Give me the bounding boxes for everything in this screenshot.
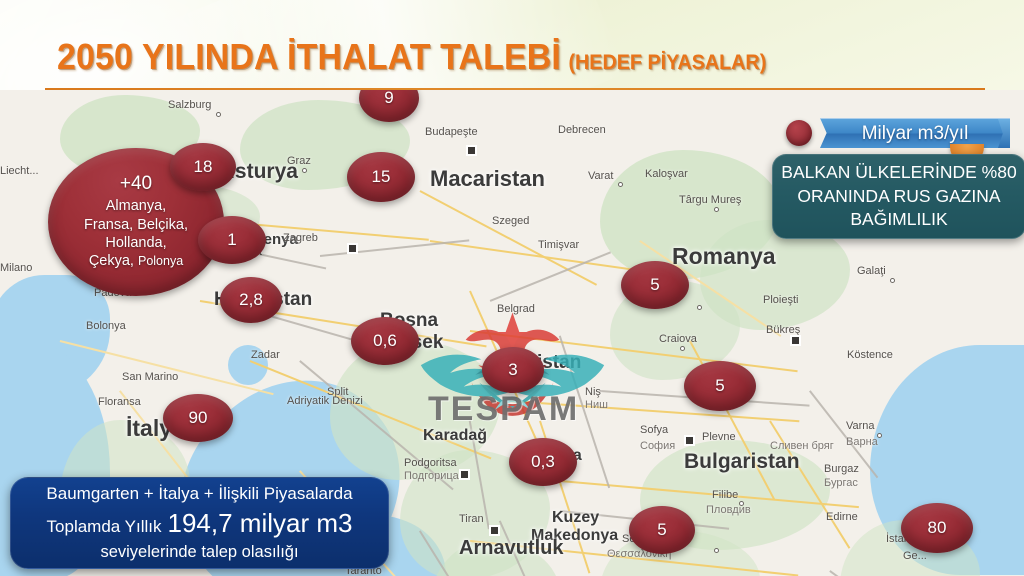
map-city-label: Varat: [588, 170, 613, 182]
bubble-value: 5: [657, 521, 666, 540]
map-city-label: Budapeşte: [425, 126, 478, 138]
map-city-label: Ploieşti: [763, 294, 798, 306]
bubble-austria[interactable]: 18: [170, 143, 236, 191]
map-city-label: Ge...: [903, 550, 927, 562]
map-city-dot: [686, 437, 693, 444]
bubble-country-line-3: Hollanda,: [84, 234, 188, 252]
map-city-dot: [792, 337, 799, 344]
slide-header: 2050 YILINDA İTHALAT TALEBİ(HEDEF PİYASA…: [0, 0, 1024, 90]
bubble-serbia[interactable]: 3: [482, 347, 544, 393]
bubble-value: 80: [928, 519, 947, 538]
map-city-label: Burgaz: [824, 463, 859, 475]
bubble-italy[interactable]: 90: [163, 394, 233, 442]
map-city-label: Tiran: [459, 513, 484, 525]
map-city-dot: [618, 182, 623, 187]
bubble-croatia[interactable]: 2,8: [220, 277, 282, 323]
map-city-dot: [349, 245, 356, 252]
map-city-label: Sofya: [640, 424, 668, 436]
map-country-label: Macaristan: [430, 166, 545, 192]
bubble-romania[interactable]: 5: [621, 261, 689, 309]
map-city-label: Filibe: [712, 489, 738, 501]
bubble-value: 5: [650, 276, 659, 295]
bubble-country-line-1: Almanya,: [84, 197, 188, 215]
map-city-label: Bolonya: [86, 320, 126, 332]
blue-line-2-value: 194,7 milyar m3: [168, 508, 353, 539]
bubble-countries: Almanya, Fransa, Belçika, Hollanda, Çeky…: [84, 197, 188, 270]
page-title-sub: (HEDEF PİYASALAR): [568, 51, 766, 74]
bubble-value: 0,6: [373, 332, 397, 351]
map-city-label: Galaţi: [857, 265, 886, 277]
bubble-value: 1: [227, 231, 236, 250]
map-city-dot: [216, 112, 221, 117]
bubble-bulgaria[interactable]: 5: [684, 361, 756, 411]
bubble-macedonia[interactable]: 0,3: [509, 438, 577, 486]
map-city-label: San Marino: [122, 371, 178, 383]
map-city-label: Debrecen: [558, 124, 606, 136]
bubble-value: +40: [120, 174, 152, 195]
map-city-label: Bükreş: [766, 324, 800, 336]
bubble-country-cekya: Çekya,: [89, 253, 134, 269]
map-city-dot: [680, 346, 685, 351]
map-city-label: Edirne: [826, 511, 858, 523]
map-city-dot: [491, 527, 498, 534]
map-city-label: Graz: [287, 155, 311, 167]
map-city-label: Floransa: [98, 396, 141, 408]
map-city-label: Варна: [846, 436, 878, 448]
map-city-label: Craiova: [659, 333, 697, 345]
bubble-bosnia[interactable]: 0,6: [351, 317, 419, 365]
blue-line-3: seviyelerinde talep olasılığı: [100, 543, 298, 562]
map-city-label: Подгорица: [404, 470, 459, 482]
map-city-label: Timişvar: [538, 239, 579, 251]
map-city-dot: [468, 147, 475, 154]
bubble-hungary[interactable]: 15: [347, 152, 415, 202]
map-city-label: Szeged: [492, 215, 529, 227]
info-box-total-demand: Baumgarten + İtalya + İlişkili Piyasalar…: [10, 477, 389, 569]
bubble-value: 0,3: [531, 453, 555, 472]
bubble-country-line-2: Fransa, Belçika,: [84, 216, 188, 234]
map-city-label: Пловдив: [706, 504, 751, 516]
teal-line-3: BAĞIMLILIK: [850, 208, 947, 232]
bubble-turkey[interactable]: 80: [901, 503, 973, 553]
bubble-country-polonya: Polonya: [138, 254, 183, 268]
map-city-dot: [461, 471, 468, 478]
map-country-label: Romanya: [672, 243, 776, 270]
info-box-russian-gas-dependency: BALKAN ÜLKELERİNDE %80 ORANINDA RUS GAZI…: [772, 154, 1024, 239]
blue-line-2-prefix: Toplamda Yıllık: [47, 517, 162, 537]
map-city-label: Köstence: [847, 349, 893, 361]
bubble-value: 90: [189, 409, 208, 428]
map-city-label: Milano: [0, 262, 32, 274]
tespam-logo-text: TESPAM: [428, 390, 579, 429]
bubble-country-line-4: Çekya, Polonya: [84, 252, 188, 270]
map-city-dot: [714, 207, 719, 212]
blue-line-1: Baumgarten + İtalya + İlişkili Piyasalar…: [46, 484, 352, 504]
bubble-value: 2,8: [239, 291, 263, 310]
map-city-label: Сливен бряг: [770, 440, 834, 452]
page-title-main: 2050 YILINDA İTHALAT TALEBİ: [57, 36, 561, 77]
slide-canvas: 2050 YILINDA İTHALAT TALEBİ(HEDEF PİYASA…: [0, 0, 1024, 576]
map-city-dot: [697, 305, 702, 310]
map-city-label: Zagreb: [283, 232, 318, 244]
map-city-label: Varna: [846, 420, 875, 432]
map-city-label: Plevne: [702, 431, 736, 443]
bubble-value: 3: [508, 361, 517, 380]
map-country-label: Arnavutluk: [459, 537, 563, 560]
map-city-label: Podgoritsa: [404, 457, 457, 469]
map-country-label: Kuzey: [552, 509, 599, 527]
blue-line-2: Toplamda Yıllık 194,7 milyar m3: [47, 508, 353, 539]
map-city-label: Salzburg: [168, 99, 211, 111]
map-city-dot: [877, 433, 882, 438]
legend-label: Milyar m3/yıl: [862, 123, 969, 145]
map-city-label: София: [640, 440, 675, 452]
legend-marker-icon: [786, 120, 812, 146]
bubble-value: 5: [715, 377, 724, 396]
page-title: 2050 YILINDA İTHALAT TALEBİ(HEDEF PİYASA…: [57, 36, 766, 78]
bubble-value: 18: [194, 158, 213, 177]
teal-line-2: ORANINDA RUS GAZINA: [797, 185, 1000, 209]
map-country-label: Bulgaristan: [684, 450, 800, 474]
map-city-label: Бургас: [824, 477, 858, 489]
map-city-label: Adriyatik Denizi: [287, 395, 363, 407]
bubble-slovenia[interactable]: 1: [198, 216, 266, 264]
bubble-greece[interactable]: 5: [629, 506, 695, 554]
teal-line-1: BALKAN ÜLKELERİNDE %80: [781, 161, 1016, 185]
map-city-dot: [739, 501, 744, 506]
map-city-label: Zadar: [251, 349, 280, 361]
map-city-dot: [302, 168, 307, 173]
map-city-label: Liecht...: [0, 165, 39, 177]
map-city-label: Târgu Mureş: [679, 194, 741, 206]
bubble-value: 15: [372, 168, 391, 187]
map-city-dot: [890, 278, 895, 283]
bubble-value: 9: [384, 90, 393, 107]
map-city-dot: [714, 548, 719, 553]
map-city-label: Kaloşvar: [645, 168, 688, 180]
